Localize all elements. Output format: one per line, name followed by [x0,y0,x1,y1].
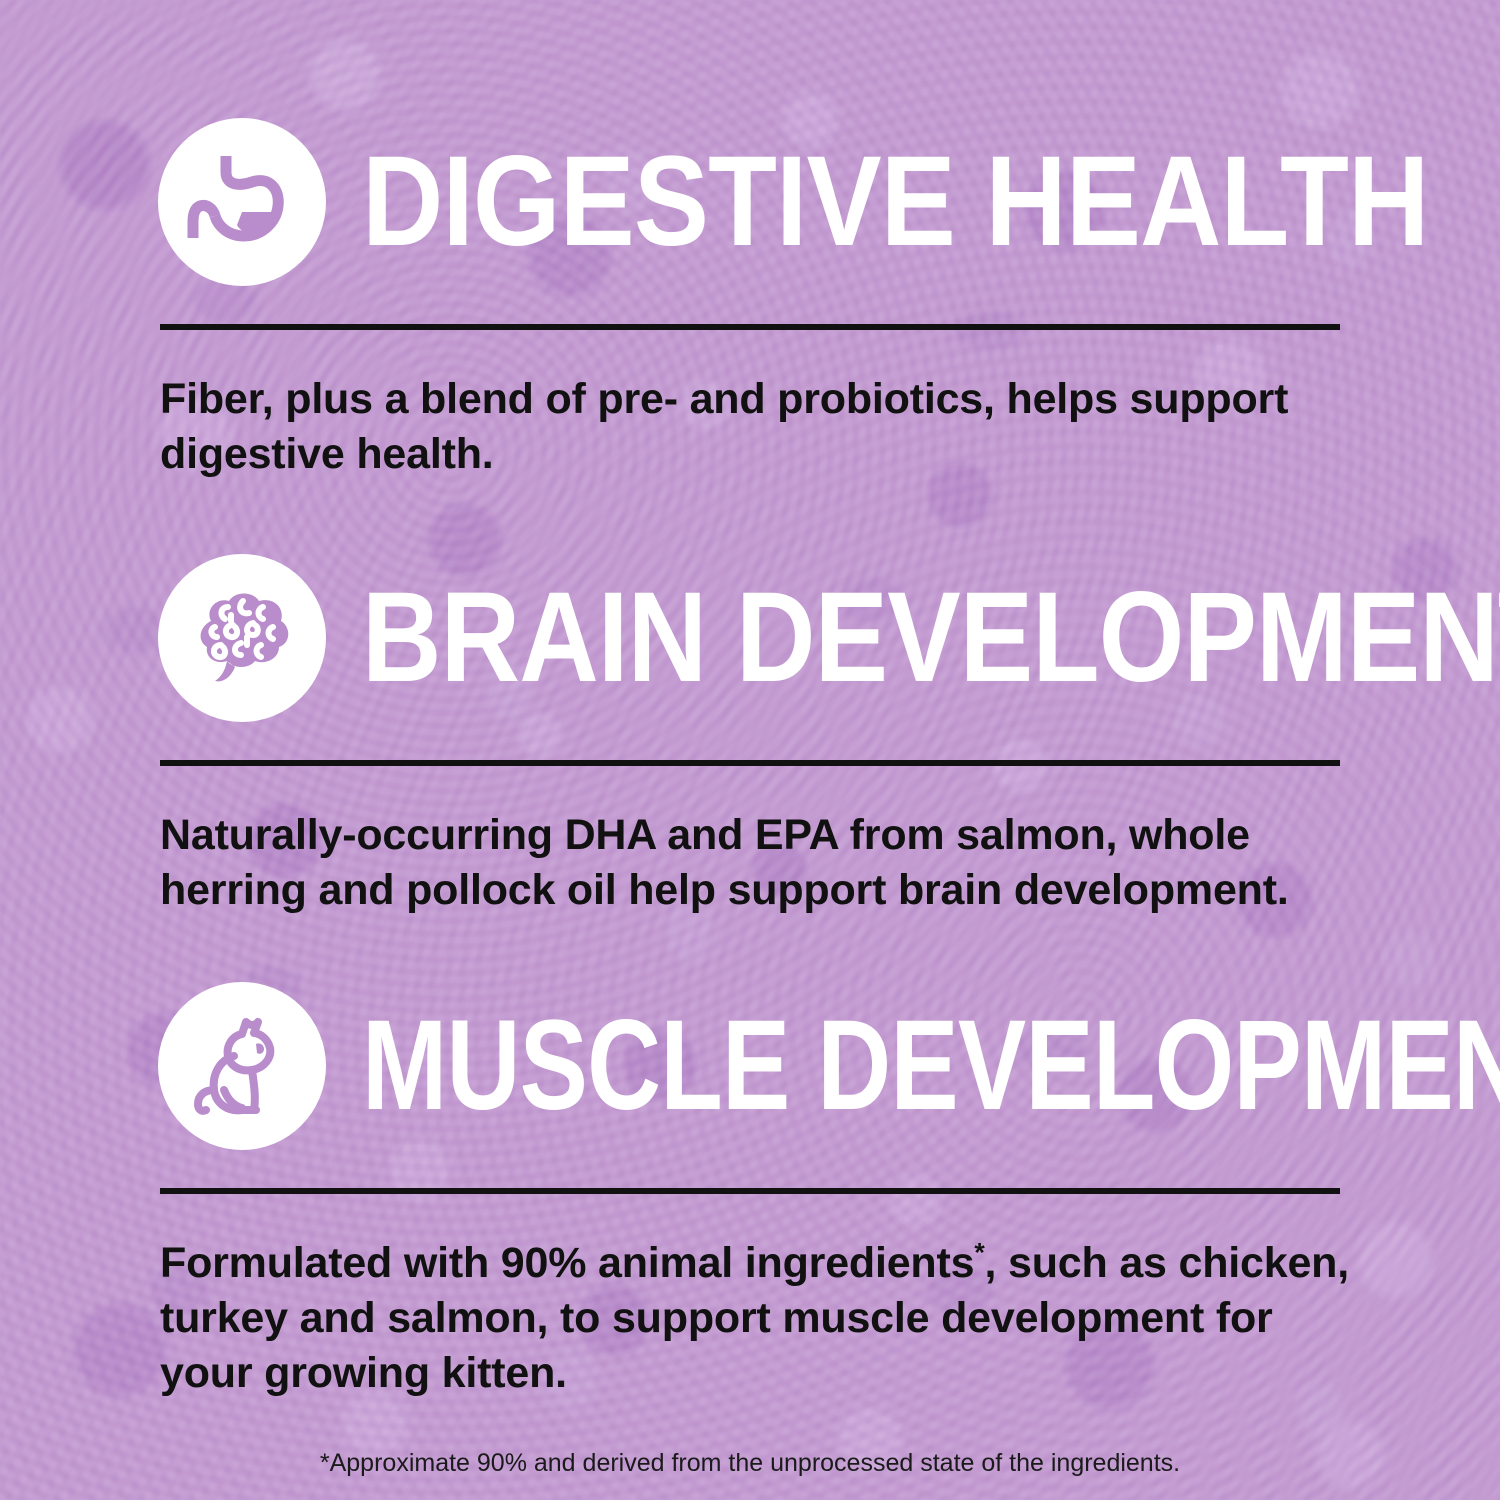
divider-rule-digestive [160,324,1340,330]
brain-icon-badge [158,554,326,722]
divider-rule-brain [160,760,1340,766]
asterisk-marker: * [974,1238,984,1268]
brain-icon [181,577,303,699]
benefit-body-muscle: Formulated with 90% animal ingredients*,… [160,1236,1360,1401]
divider-rule-muscle [160,1188,1340,1194]
benefits-content: DIGESTIVE HEALTH Fiber, plus a blend of … [0,0,1500,1478]
benefit-header-brain: BRAIN DEVELOPMENT [0,482,1500,722]
benefit-section-muscle: MUSCLE DEVELOPMENT Formulated with 90% a… [0,918,1500,1401]
stomach-icon-badge [158,118,326,286]
benefit-body-digestive: Fiber, plus a blend of pre- and probioti… [160,372,1360,482]
benefit-body-muscle-part1: Formulated with 90% animal ingredients [160,1239,974,1287]
benefit-section-digestive: DIGESTIVE HEALTH Fiber, plus a blend of … [0,0,1500,482]
product-benefits-infographic: DIGESTIVE HEALTH Fiber, plus a blend of … [0,0,1500,1500]
benefit-headline-muscle: MUSCLE DEVELOPMENT [362,1012,1500,1120]
benefit-header-muscle: MUSCLE DEVELOPMENT [0,918,1500,1150]
benefit-headline-digestive: DIGESTIVE HEALTH [362,148,1429,256]
benefit-headline-brain: BRAIN DEVELOPMENT [362,584,1500,692]
benefit-section-brain: BRAIN DEVELOPMENT Naturally-occurring DH… [0,482,1500,918]
cat-icon [180,1004,304,1128]
benefit-body-brain: Naturally-occurring DHA and EPA from sal… [160,808,1360,918]
benefit-header-digestive: DIGESTIVE HEALTH [0,0,1500,286]
cat-icon-badge [158,982,326,1150]
stomach-icon [182,142,302,262]
footnote-disclaimer: *Approximate 90% and derived from the un… [0,1449,1500,1478]
